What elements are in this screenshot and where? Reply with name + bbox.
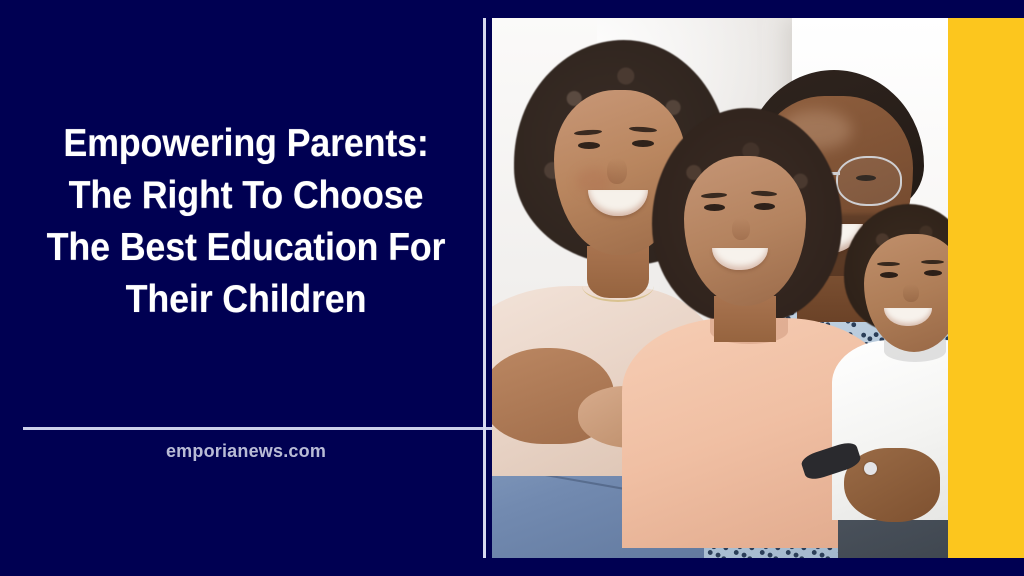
mother-nose bbox=[607, 158, 627, 184]
child-eyebrow-left bbox=[877, 262, 900, 266]
child-eyebrow-right bbox=[921, 260, 944, 264]
social-card-canvas: Empowering Parents: The Right To Choose … bbox=[0, 0, 1024, 576]
photo-background bbox=[492, 18, 948, 558]
child-eye-left bbox=[880, 272, 898, 278]
mother-necklace bbox=[582, 270, 654, 302]
page-title: Empowering Parents: The Right To Choose … bbox=[40, 118, 452, 326]
mother-eye-left bbox=[578, 142, 600, 149]
yellow-accent-bar bbox=[948, 18, 1024, 558]
horizontal-divider bbox=[23, 427, 495, 430]
daughter-nose bbox=[732, 218, 750, 240]
mother-eye-right bbox=[632, 140, 654, 147]
eyeglasses-lens-right-icon bbox=[836, 156, 902, 206]
vertical-divider bbox=[483, 18, 486, 558]
child-eye-right bbox=[924, 270, 942, 276]
family-photo bbox=[492, 18, 948, 558]
site-url-label: emporianews.com bbox=[22, 441, 470, 462]
father-ring bbox=[864, 462, 877, 475]
daughter-eye-right bbox=[754, 203, 775, 210]
child-nose bbox=[903, 284, 919, 302]
daughter-eye-left bbox=[704, 204, 725, 211]
